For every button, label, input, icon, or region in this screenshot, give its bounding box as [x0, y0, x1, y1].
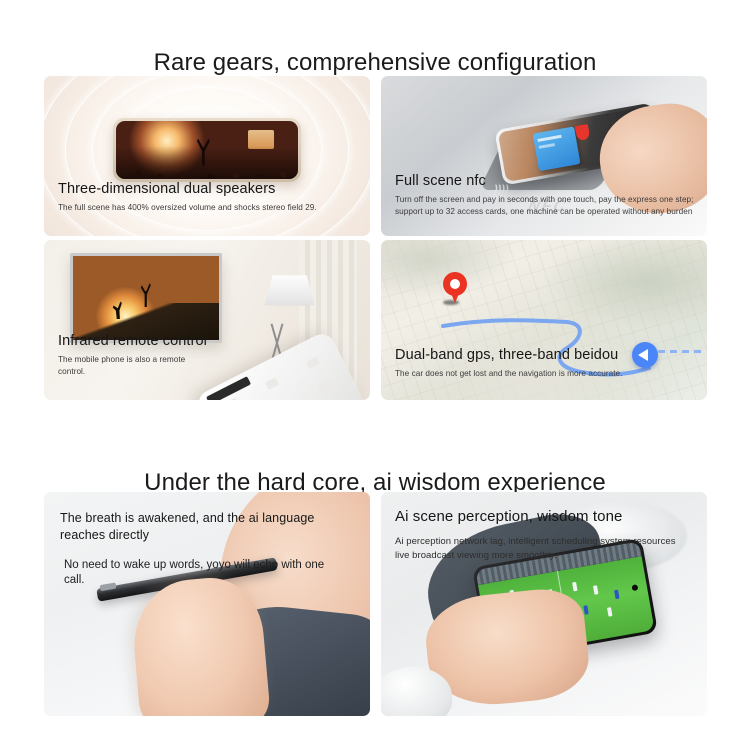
- feature-card-dual-speakers[interactable]: Three-dimensional dual speakers The full…: [44, 76, 370, 236]
- feature-card-ai-scene-perception[interactable]: Ai scene perception, wisdom tone Ai perc…: [381, 492, 707, 716]
- phone-device: [113, 118, 301, 182]
- location-pin-icon: [443, 272, 467, 303]
- nfc-copy: Full scene nfc Turn off the screen and p…: [395, 172, 697, 218]
- ai-language-copy: The breath is awakened, and the ai langu…: [60, 510, 342, 588]
- card-title: Dual-band gps, three-band beidou: [395, 346, 697, 364]
- card-title: The breath is awakened, and the ai langu…: [60, 510, 342, 544]
- feature-card-ai-language[interactable]: The breath is awakened, and the ai langu…: [44, 492, 370, 716]
- card-title: Full scene nfc: [395, 172, 697, 190]
- card-title: Ai scene perception, wisdom tone: [395, 508, 685, 527]
- card-description: The full scene has 400% oversized volume…: [58, 202, 360, 214]
- card-subtitle: No need to wake up words, yoyo will echo…: [64, 558, 342, 588]
- card-description: The car does not get lost and the naviga…: [395, 368, 697, 380]
- floor-lamp-shade: [265, 275, 315, 305]
- feature-card-full-scene-nfc[interactable]: )))) NFC Full scene nfc Turn off the scr…: [381, 76, 707, 236]
- ai-scene-copy: Ai scene perception, wisdom tone Ai perc…: [395, 508, 685, 563]
- tv-screen-sunset-hikers: [73, 256, 219, 340]
- product-feature-page: Rare gears, comprehensive configuration …: [0, 0, 750, 750]
- card-description: Turn off the screen and pay in seconds w…: [395, 194, 697, 218]
- television: [70, 253, 222, 343]
- card-title: Infrared remote control: [58, 332, 243, 350]
- card-title: Three-dimensional dual speakers: [58, 180, 360, 198]
- card-description: Ai perception network lag, intelligent s…: [395, 535, 685, 564]
- dual-speakers-copy: Three-dimensional dual speakers The full…: [58, 180, 360, 214]
- concert-screen: [116, 121, 298, 179]
- gps-copy: Dual-band gps, three-band beidou The car…: [395, 346, 697, 380]
- feature-card-infrared-remote[interactable]: Infrared remote control The mobile phone…: [44, 240, 370, 400]
- card-description: The mobile phone is also a remote contro…: [58, 354, 208, 378]
- feature-card-dual-band-gps[interactable]: Dual-band gps, three-band beidou The car…: [381, 240, 707, 400]
- section-heading-rare-gears: Rare gears, comprehensive configuration: [0, 49, 750, 77]
- infrared-copy: Infrared remote control The mobile phone…: [58, 332, 243, 378]
